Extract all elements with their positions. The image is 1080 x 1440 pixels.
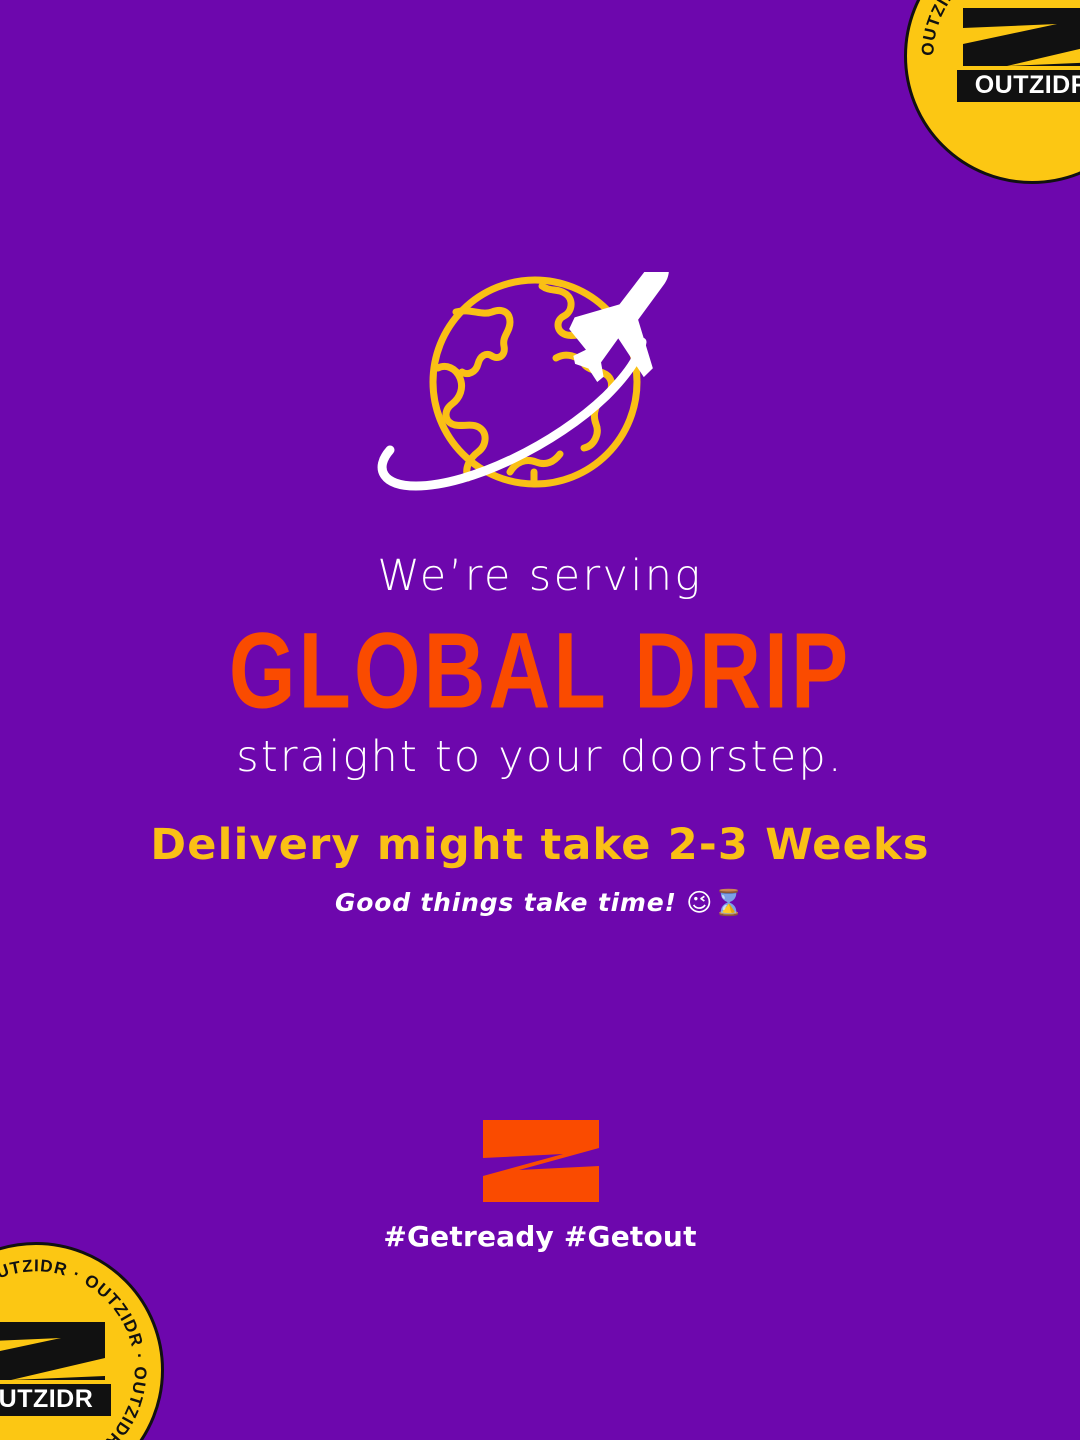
delivery-reassurance-text: Good things take time! 😉⌛ — [0, 888, 1080, 918]
outzidr-badge-top-right: OUTZIDR · OUTZIDR · OUTZIDR · OUTZIDR · … — [904, 0, 1080, 184]
footer-group: #Getready #Getout — [0, 1118, 1080, 1253]
hashtags-text: #Getready #Getout — [0, 1220, 1080, 1253]
badge-z-mark-bottom-left — [0, 1322, 105, 1380]
delivery-notice-text: Delivery might take 2-3 Weeks — [0, 820, 1080, 870]
outzidr-z-logo — [475, 1118, 605, 1204]
badge-wordmark-top-right: OUTZIDR — [975, 71, 1080, 99]
badge-core-bottom-left: OUTZIDR — [0, 1318, 111, 1422]
globe-airplane-icon — [360, 272, 720, 512]
eyebrow-text: We’re serving — [0, 552, 1080, 601]
badge-z-mark-top-right — [963, 8, 1080, 66]
subline-text: straight to your doorstep. — [0, 733, 1080, 782]
promo-poster: OUTZIDR · OUTZIDR · OUTZIDR · OUTZIDR · … — [0, 0, 1080, 1440]
badge-wordmark-bottom-left: OUTZIDR — [0, 1385, 93, 1413]
badge-core-top-right: OUTZIDR — [957, 4, 1080, 108]
headline-group: We’re serving GLOBAL DRIP straight to yo… — [0, 552, 1080, 783]
wink-hourglass-emoji: 😉⌛ — [686, 888, 745, 917]
reassurance-words: Good things take time! — [335, 888, 686, 917]
z-mark-path — [483, 1120, 599, 1202]
delivery-notice-group: Delivery might take 2-3 Weeks Good thing… — [0, 820, 1080, 918]
headline-text: GLOBAL DRIP — [0, 613, 1080, 723]
outzidr-badge-bottom-left: OUTZIDR · OUTZIDR · OUTZIDR · OUTZIDR · … — [0, 1242, 164, 1440]
